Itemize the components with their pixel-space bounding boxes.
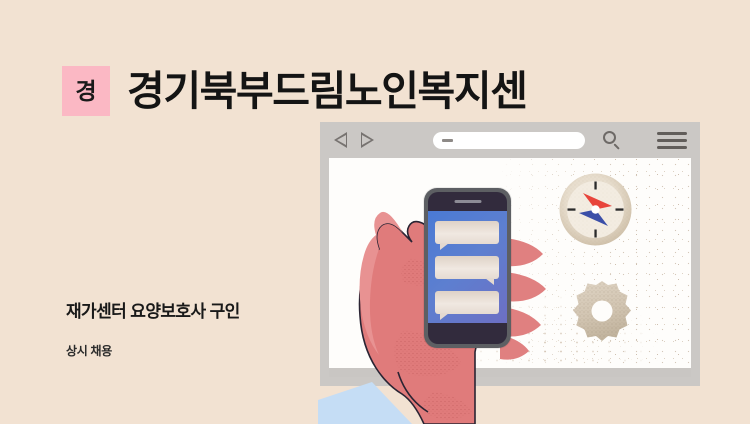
- employment-type: 상시 채용: [66, 342, 112, 359]
- gear-icon: [567, 278, 637, 348]
- compass-icon: [558, 172, 633, 247]
- hamburger-bar-3: [657, 146, 687, 149]
- triangle-left-icon: [334, 132, 347, 148]
- job-title: 재가센터 요양보호사 구인: [66, 297, 240, 322]
- desk-shelf-line: [329, 368, 691, 377]
- text-cursor-icon: [442, 139, 453, 142]
- organization-title: 경기북부드림노인복지센: [127, 71, 527, 112]
- phone-screen: [428, 211, 507, 323]
- phone-speaker-icon: [454, 200, 481, 203]
- poster-canvas: 경 경기북부드림노인복지센 재가센터 요양보호사 구인 상시 채용: [0, 0, 750, 424]
- back-button[interactable]: [333, 132, 348, 149]
- magnifier-icon: [603, 131, 616, 144]
- magnifier-handle-icon: [613, 143, 620, 150]
- hamburger-bar-1: [657, 132, 687, 135]
- menu-button[interactable]: [657, 132, 687, 149]
- browser-nav-group: [333, 132, 375, 149]
- message-bubble: [435, 221, 499, 244]
- smartphone: [424, 188, 511, 348]
- search-button[interactable]: [603, 131, 622, 150]
- triangle-right-icon: [361, 132, 374, 148]
- hamburger-bar-2: [657, 139, 687, 142]
- phone-bezel: [428, 192, 507, 344]
- forward-button[interactable]: [360, 132, 375, 149]
- sleeve: [318, 382, 412, 424]
- organization-header: 경 경기북부드림노인복지센: [62, 66, 527, 116]
- address-bar-input[interactable]: [433, 132, 585, 149]
- message-bubble: [435, 256, 499, 279]
- message-bubble: [435, 291, 499, 314]
- korean-letter-badge-icon: 경: [62, 66, 110, 116]
- browser-toolbar: [320, 122, 700, 158]
